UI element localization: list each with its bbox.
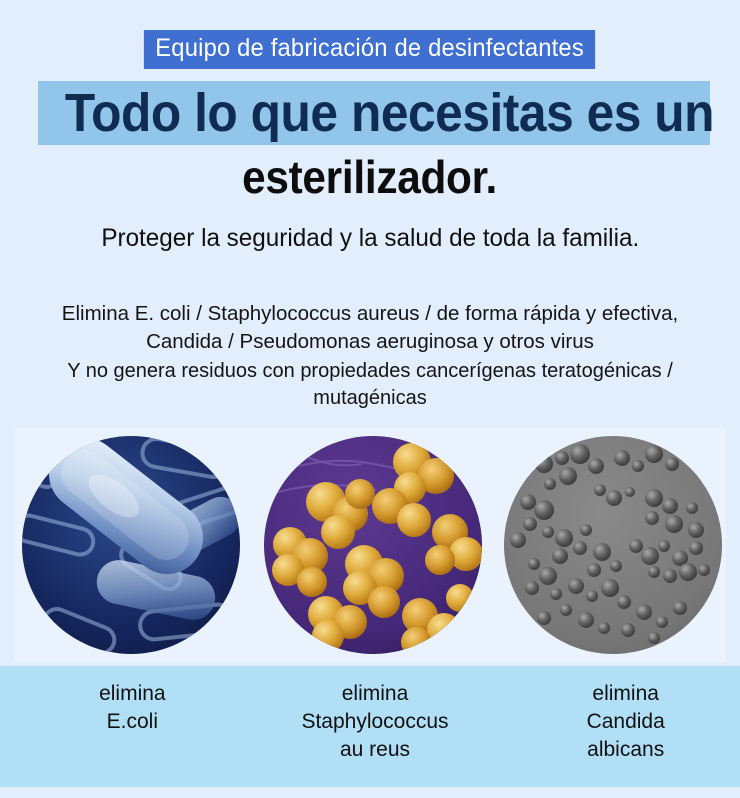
body-paragraph-1: Elimina E. coli / Staphylococcus aureus … (20, 300, 720, 356)
caption-column-staphylococcus: elimina Staphylococcus au reus (247, 680, 490, 764)
promo-poster: Equipo de fabricación de desinfectantes … (0, 0, 740, 798)
caption-column-candida: elimina Candida albicans (489, 680, 740, 764)
caption-line-2: E.coli (18, 708, 247, 736)
caption-line-1: elimina (511, 680, 740, 708)
kicker-banner-wrap: Equipo de fabricación de desinfectantes (0, 30, 740, 69)
caption-band: elimina E.coli elimina Staphylococcus au… (0, 666, 740, 787)
subtitle-text: Proteger la seguridad y la salud de toda… (101, 222, 639, 254)
caption-line-2: Staphylococcus (261, 708, 490, 736)
subtitle: Proteger la seguridad y la salud de toda… (0, 222, 740, 254)
caption-line-3: albicans (511, 736, 740, 764)
staphylococcus-micrograph-circle (264, 436, 482, 654)
caption-column-ecoli: elimina E.coli (0, 680, 247, 764)
headline-line-2: esterilizador. (243, 150, 498, 204)
caption-line-1: elimina (18, 680, 247, 708)
candida-micrograph-circle (504, 436, 722, 654)
caption-line-2: Candida (511, 708, 740, 736)
headline-highlight-bar: Todo lo que necesitas es un (38, 81, 710, 145)
caption-line-3: au reus (261, 736, 490, 764)
headline-line-2-wrap: esterilizador. (0, 150, 740, 204)
body-paragraph-2: Y no genera residuos con propiedades can… (20, 358, 720, 412)
caption-line-1: elimina (261, 680, 490, 708)
ecoli-micrograph-circle (22, 436, 240, 654)
headline-line-1: Todo lo que necesitas es un (65, 81, 683, 145)
body-copy: Elimina E. coli / Staphylococcus aureus … (20, 300, 720, 412)
caption-columns: elimina E.coli elimina Staphylococcus au… (0, 666, 740, 764)
kicker-banner: Equipo de fabricación de desinfectantes (144, 30, 595, 69)
micrograph-gallery (14, 428, 726, 662)
